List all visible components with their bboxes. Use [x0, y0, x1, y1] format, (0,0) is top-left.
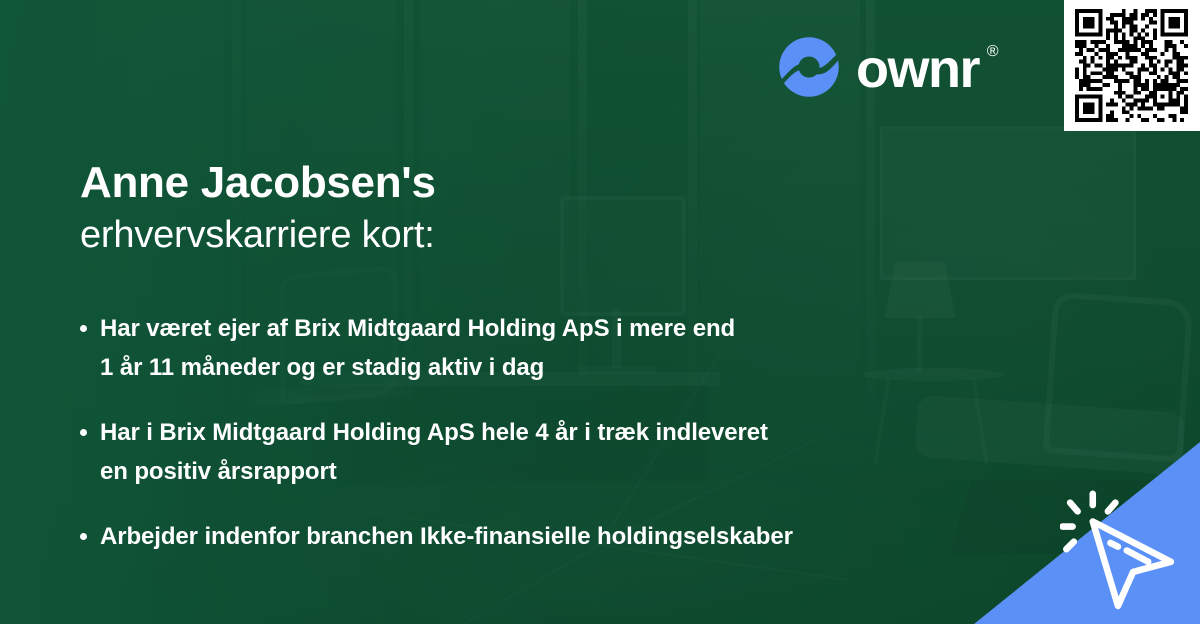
- bullet-icon: [80, 325, 87, 332]
- facts-list: Har været ejer af Brix Midtgaard Holding…: [80, 310, 960, 556]
- qr-code[interactable]: [1073, 9, 1190, 122]
- career-card: ownr ® Anne Jacobsen's erhvervskarriere …: [0, 0, 1200, 624]
- headline-line-1: Anne Jacobsen's: [80, 158, 436, 207]
- click-cursor-icon: [1060, 490, 1186, 616]
- ownr-logo-mark: [778, 36, 840, 98]
- fact-text: Har været ejer af Brix Midtgaard Holding…: [100, 310, 735, 388]
- bullet-icon: [80, 533, 87, 540]
- ownr-logo[interactable]: ownr ®: [778, 36, 979, 98]
- fact-text: Arbejder indenfor branchen Ikke-finansie…: [100, 518, 793, 557]
- ownr-wordmark-text: ownr: [856, 39, 979, 99]
- list-item: Har været ejer af Brix Midtgaard Holding…: [80, 310, 960, 388]
- registered-mark: ®: [987, 44, 997, 60]
- corner-accent: [974, 442, 1200, 624]
- page-title: Anne Jacobsen's erhvervskarriere kort:: [80, 158, 436, 259]
- qr-code-panel[interactable]: [1064, 0, 1200, 131]
- fact-text: Har i Brix Midtgaard Holding ApS hele 4 …: [100, 414, 768, 492]
- list-item: Arbejder indenfor branchen Ikke-finansie…: [80, 518, 960, 557]
- list-item: Har i Brix Midtgaard Holding ApS hele 4 …: [80, 414, 960, 492]
- ownr-wordmark: ownr ®: [856, 38, 979, 96]
- headline-line-2: erhvervskarriere kort:: [80, 213, 436, 259]
- bullet-icon: [80, 429, 87, 436]
